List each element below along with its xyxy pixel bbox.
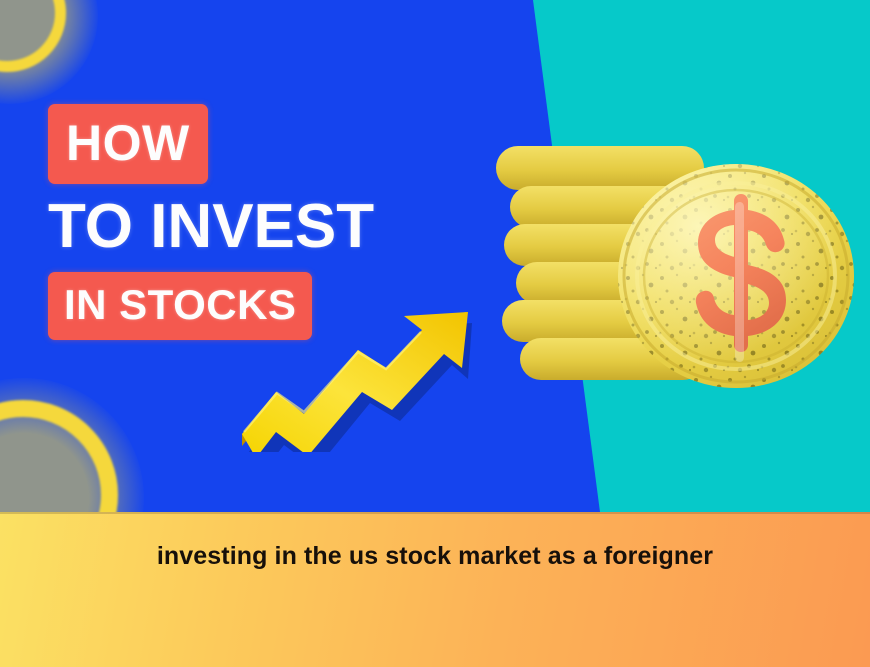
poster-image: HOW TO INVEST IN STOCKS (0, 0, 870, 667)
headline-line-2: TO INVEST (48, 196, 374, 258)
headline-line-1: HOW (48, 104, 208, 184)
upward-trend-arrow-icon (236, 312, 496, 452)
headline-block: HOW TO INVEST IN STOCKS (48, 104, 374, 340)
coin-stack-icon (488, 136, 860, 406)
caption-text: investing in the us stock market as a fo… (0, 542, 870, 571)
caption-banner: investing in the us stock market as a fo… (0, 512, 870, 667)
